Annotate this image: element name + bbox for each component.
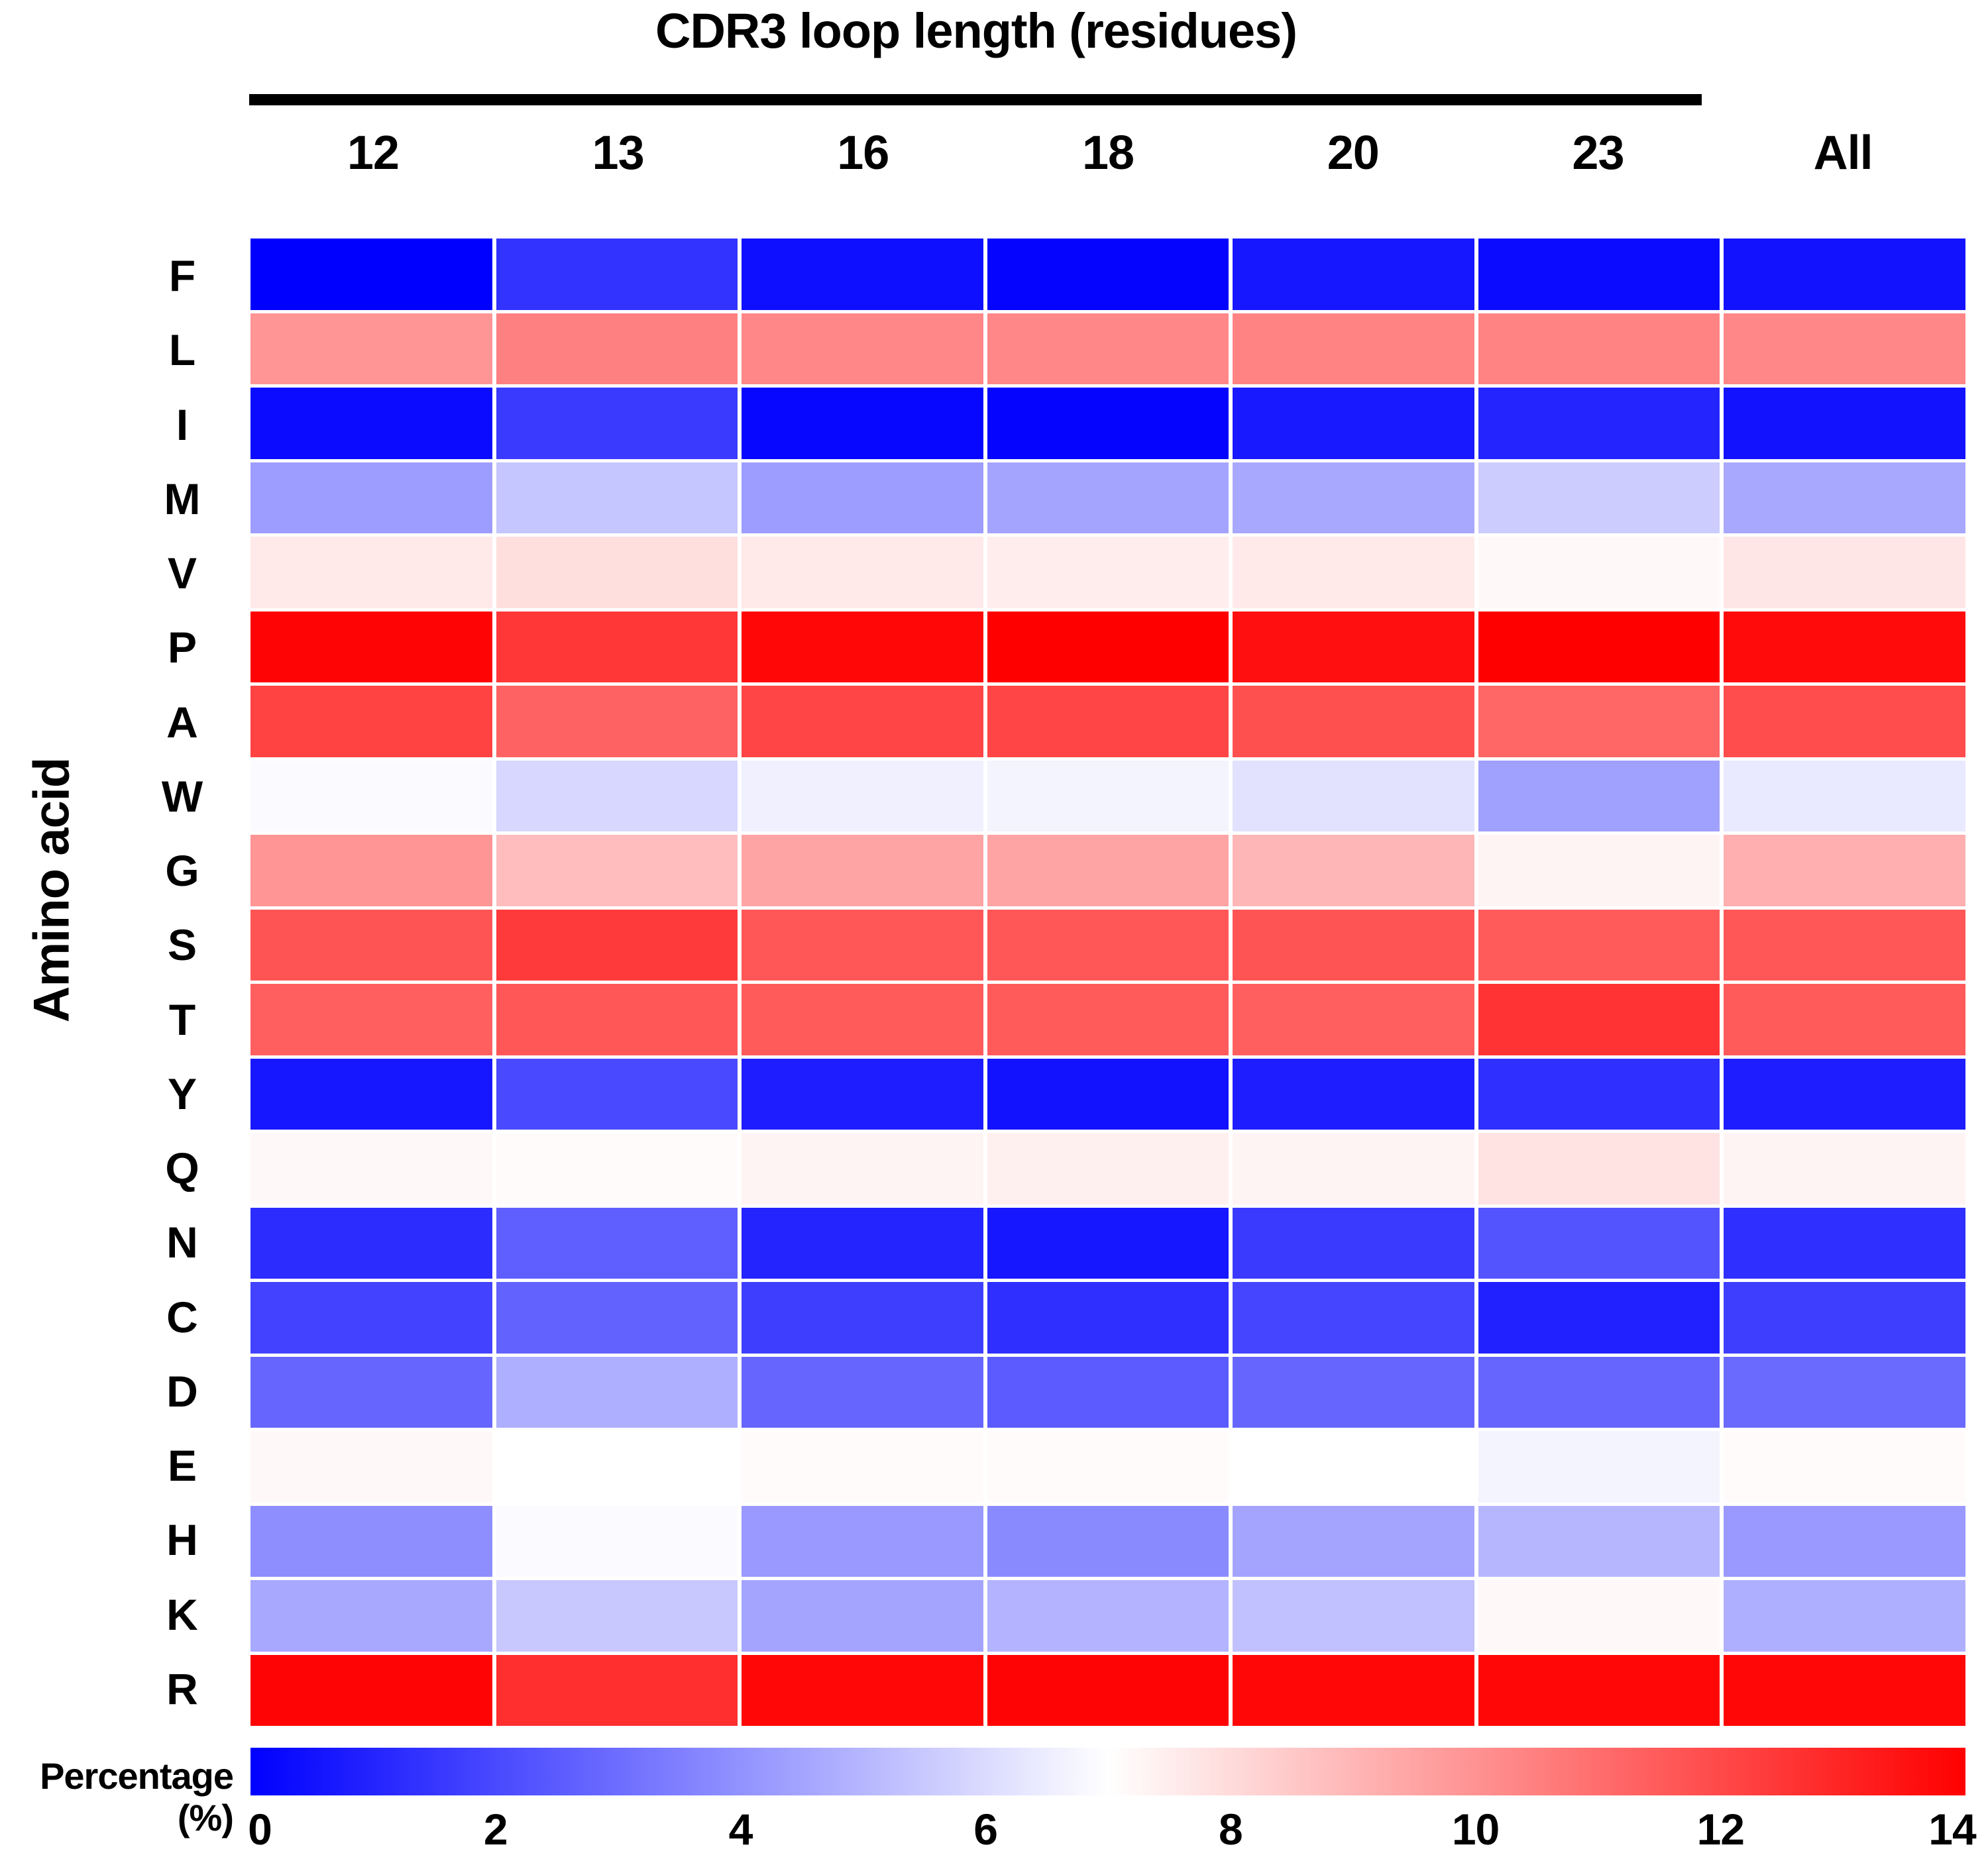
heatmap-cell-V-16 — [742, 537, 983, 608]
colorbar-tick-14: 14 — [1928, 1799, 1975, 1859]
heatmap-cell-Q-All — [1724, 1133, 1965, 1204]
heatmap-cell-I-18 — [987, 388, 1229, 459]
heatmap-cell-K-12 — [250, 1580, 492, 1652]
heatmap-cell-V-18 — [987, 537, 1229, 608]
heatmap-cell-Q-16 — [742, 1133, 983, 1204]
heatmap-cell-P-All — [1724, 612, 1965, 683]
heatmap-cell-Y-12 — [250, 1059, 492, 1130]
heatmap-cell-R-All — [1724, 1655, 1965, 1727]
heatmap-cell-I-13 — [496, 388, 738, 459]
row-label-E: E — [133, 1428, 232, 1503]
heatmap-cell-Q-12 — [250, 1133, 492, 1204]
heatmap-cell-C-12 — [250, 1282, 492, 1354]
heatmap-cell-G-16 — [742, 835, 983, 906]
heatmap-cell-D-12 — [250, 1357, 492, 1428]
heatmap-row-E — [250, 1431, 1965, 1503]
heatmap-cell-V-20 — [1233, 537, 1474, 608]
heatmap-cell-Y-16 — [742, 1059, 983, 1130]
heatmap-cell-E-13 — [496, 1431, 738, 1503]
colorbar-tick-labels: 02468101214 — [250, 1799, 1965, 1859]
colorbar-tick-6: 6 — [973, 1799, 997, 1859]
heatmap-cell-R-18 — [987, 1655, 1229, 1727]
heatmap-cell-L-18 — [987, 313, 1229, 385]
heatmap-cell-P-13 — [496, 612, 738, 683]
heatmap-cell-D-23 — [1478, 1357, 1720, 1428]
heatmap-cell-N-All — [1724, 1208, 1965, 1279]
heatmap-cell-E-20 — [1233, 1431, 1474, 1503]
heatmap-cell-N-13 — [496, 1208, 738, 1279]
heatmap-cell-Q-20 — [1233, 1133, 1474, 1204]
heatmap-cell-S-20 — [1233, 910, 1474, 981]
heatmap-cell-W-18 — [987, 761, 1229, 832]
heatmap-cell-D-13 — [496, 1357, 738, 1428]
heatmap-cell-L-20 — [1233, 313, 1474, 385]
row-label-H: H — [133, 1503, 232, 1577]
heatmap-row-F — [250, 239, 1965, 310]
heatmap-row-W — [250, 761, 1965, 832]
heatmap-cell-S-13 — [496, 910, 738, 981]
heatmap-row-L — [250, 313, 1965, 385]
heatmap-cell-T-All — [1724, 984, 1965, 1055]
heatmap-grid — [250, 239, 1965, 1726]
heatmap-cell-V-12 — [250, 537, 492, 608]
heatmap-row-Y — [250, 1059, 1965, 1130]
heatmap-cell-K-20 — [1233, 1580, 1474, 1652]
heatmap-cell-E-All — [1724, 1431, 1965, 1503]
heatmap-cell-D-16 — [742, 1357, 983, 1428]
row-label-Y: Y — [133, 1057, 232, 1131]
heatmap-cell-C-20 — [1233, 1282, 1474, 1354]
column-header-13: 13 — [496, 117, 741, 189]
heatmap-cell-A-23 — [1478, 686, 1720, 757]
heatmap-cell-E-18 — [987, 1431, 1229, 1503]
colorbar-gradient — [250, 1748, 1965, 1795]
heatmap-cell-P-12 — [250, 612, 492, 683]
heatmap-cell-P-20 — [1233, 612, 1474, 683]
heatmap-row-K — [250, 1580, 1965, 1652]
heatmap-cell-N-12 — [250, 1208, 492, 1279]
heatmap-cell-A-16 — [742, 686, 983, 757]
row-label-column: FLIMVPAWGSTYQNCDEHKR — [133, 239, 232, 1726]
heatmap-cell-S-16 — [742, 910, 983, 981]
heatmap-row-M — [250, 462, 1965, 534]
heatmap-cell-S-12 — [250, 910, 492, 981]
heatmap-cell-V-23 — [1478, 537, 1720, 608]
heatmap-cell-F-All — [1724, 239, 1965, 310]
heatmap-cell-G-18 — [987, 835, 1229, 906]
heatmap-cell-H-13 — [496, 1506, 738, 1577]
heatmap-cell-P-16 — [742, 612, 983, 683]
heatmap-cell-Q-18 — [987, 1133, 1229, 1204]
heatmap-cell-C-16 — [742, 1282, 983, 1354]
row-label-M: M — [133, 462, 232, 536]
row-label-F: F — [133, 239, 232, 313]
heatmap-cell-K-16 — [742, 1580, 983, 1652]
heatmap-cell-Y-18 — [987, 1059, 1229, 1130]
heatmap-cell-F-23 — [1478, 239, 1720, 310]
column-header-all: All — [1720, 117, 1965, 189]
heatmap-cell-M-12 — [250, 462, 492, 534]
heatmap-row-N — [250, 1208, 1965, 1279]
heatmap-cell-V-13 — [496, 537, 738, 608]
heatmap-cell-V-All — [1724, 537, 1965, 608]
row-label-W: W — [133, 759, 232, 833]
heatmap-cell-W-20 — [1233, 761, 1474, 832]
heatmap-cell-M-18 — [987, 462, 1229, 534]
heatmap-cell-E-12 — [250, 1431, 492, 1503]
colorbar-tick-8: 8 — [1219, 1799, 1242, 1859]
heatmap-cell-L-12 — [250, 313, 492, 385]
heatmap-figure: CDR3 loop length (residues) 121316182023… — [0, 0, 1988, 1863]
heatmap-cell-N-20 — [1233, 1208, 1474, 1279]
heatmap-cell-R-23 — [1478, 1655, 1720, 1727]
row-label-L: L — [133, 313, 232, 387]
heatmap-row-Q — [250, 1133, 1965, 1204]
heatmap-cell-N-23 — [1478, 1208, 1720, 1279]
heatmap-cell-A-12 — [250, 686, 492, 757]
row-label-P: P — [133, 610, 232, 684]
heatmap-cell-L-All — [1724, 313, 1965, 385]
heatmap-cell-H-20 — [1233, 1506, 1474, 1577]
heatmap-cell-R-16 — [742, 1655, 983, 1727]
column-axis-rule — [249, 94, 1702, 105]
column-header-16: 16 — [740, 117, 985, 189]
heatmap-cell-T-23 — [1478, 984, 1720, 1055]
heatmap-cell-W-12 — [250, 761, 492, 832]
heatmap-cell-K-All — [1724, 1580, 1965, 1652]
heatmap-cell-K-13 — [496, 1580, 738, 1652]
heatmap-cell-G-13 — [496, 835, 738, 906]
heatmap-row-T — [250, 984, 1965, 1055]
heatmap-cell-C-18 — [987, 1282, 1229, 1354]
row-label-G: G — [133, 833, 232, 908]
heatmap-cell-F-12 — [250, 239, 492, 310]
heatmap-cell-R-20 — [1233, 1655, 1474, 1727]
heatmap-cell-M-All — [1724, 462, 1965, 534]
heatmap-cell-A-All — [1724, 686, 1965, 757]
heatmap-cell-T-13 — [496, 984, 738, 1055]
row-axis-title: Amino acid — [23, 592, 81, 1189]
heatmap-cell-T-12 — [250, 984, 492, 1055]
heatmap-cell-W-16 — [742, 761, 983, 832]
heatmap-cell-F-16 — [742, 239, 983, 310]
heatmap-cell-N-18 — [987, 1208, 1229, 1279]
heatmap-cell-R-13 — [496, 1655, 738, 1727]
heatmap-cell-Q-23 — [1478, 1133, 1720, 1204]
colorbar-tick-4: 4 — [729, 1799, 753, 1859]
row-label-C: C — [133, 1280, 232, 1354]
heatmap-cell-C-23 — [1478, 1282, 1720, 1354]
heatmap-cell-Y-20 — [1233, 1059, 1474, 1130]
heatmap-cell-M-20 — [1233, 462, 1474, 534]
row-label-N: N — [133, 1205, 232, 1279]
colorbar-tick-2: 2 — [484, 1799, 508, 1859]
column-header-20: 20 — [1231, 117, 1476, 189]
heatmap-cell-K-23 — [1478, 1580, 1720, 1652]
row-label-R: R — [133, 1652, 232, 1726]
heatmap-cell-M-23 — [1478, 462, 1720, 534]
heatmap-row-C — [250, 1282, 1965, 1354]
row-label-I: I — [133, 388, 232, 462]
heatmap-cell-W-All — [1724, 761, 1965, 832]
heatmap-cell-P-23 — [1478, 612, 1720, 683]
row-label-D: D — [133, 1354, 232, 1428]
heatmap-cell-R-12 — [250, 1655, 492, 1727]
heatmap-cell-D-All — [1724, 1357, 1965, 1428]
heatmap-cell-F-18 — [987, 239, 1229, 310]
heatmap-cell-I-All — [1724, 388, 1965, 459]
heatmap-cell-H-16 — [742, 1506, 983, 1577]
heatmap-cell-A-13 — [496, 686, 738, 757]
heatmap-cell-H-All — [1724, 1506, 1965, 1577]
heatmap-cell-G-12 — [250, 835, 492, 906]
heatmap-cell-I-23 — [1478, 388, 1720, 459]
heatmap-cell-F-13 — [496, 239, 738, 310]
heatmap-cell-Y-23 — [1478, 1059, 1720, 1130]
heatmap-cell-H-23 — [1478, 1506, 1720, 1577]
colorbar-label-line1: Percentage — [40, 1755, 233, 1797]
heatmap-cell-F-20 — [1233, 239, 1474, 310]
heatmap-cell-H-18 — [987, 1506, 1229, 1577]
colorbar-tick-10: 10 — [1452, 1799, 1499, 1859]
heatmap-cell-E-16 — [742, 1431, 983, 1503]
colorbar-label-line2: (%) — [0, 1797, 233, 1839]
heatmap-row-V — [250, 537, 1965, 608]
heatmap-row-D — [250, 1357, 1965, 1428]
heatmap-cell-L-23 — [1478, 313, 1720, 385]
heatmap-cell-T-18 — [987, 984, 1229, 1055]
column-axis-title: CDR3 loop length (residues) — [250, 5, 1702, 57]
row-label-A: A — [133, 685, 232, 759]
heatmap-row-H — [250, 1506, 1965, 1577]
heatmap-cell-S-All — [1724, 910, 1965, 981]
heatmap-cell-K-18 — [987, 1580, 1229, 1652]
heatmap-cell-A-20 — [1233, 686, 1474, 757]
heatmap-row-P — [250, 612, 1965, 683]
colorbar-axis-label: Percentage (%) — [0, 1756, 233, 1838]
heatmap-cell-W-13 — [496, 761, 738, 832]
heatmap-cell-M-13 — [496, 462, 738, 534]
heatmap-row-R — [250, 1655, 1965, 1727]
colorbar-tick-0: 0 — [248, 1799, 272, 1859]
heatmap-cell-S-23 — [1478, 910, 1720, 981]
heatmap-cell-T-16 — [742, 984, 983, 1055]
heatmap-cell-P-18 — [987, 612, 1229, 683]
heatmap-cell-C-All — [1724, 1282, 1965, 1354]
heatmap-cell-I-16 — [742, 388, 983, 459]
heatmap-cell-W-23 — [1478, 761, 1720, 832]
colorbar-tick-12: 12 — [1697, 1799, 1744, 1859]
heatmap-cell-D-18 — [987, 1357, 1229, 1428]
column-header-18: 18 — [985, 117, 1231, 189]
row-label-T: T — [133, 983, 232, 1057]
heatmap-cell-E-23 — [1478, 1431, 1720, 1503]
column-header-23: 23 — [1476, 117, 1721, 189]
row-label-Q: Q — [133, 1131, 232, 1205]
column-header-12: 12 — [250, 117, 496, 189]
row-label-V: V — [133, 536, 232, 610]
heatmap-cell-I-12 — [250, 388, 492, 459]
heatmap-cell-M-16 — [742, 462, 983, 534]
heatmap-cell-N-16 — [742, 1208, 983, 1279]
heatmap-cell-L-16 — [742, 313, 983, 385]
heatmap-cell-C-13 — [496, 1282, 738, 1354]
row-label-K: K — [133, 1577, 232, 1652]
heatmap-cell-A-18 — [987, 686, 1229, 757]
heatmap-cell-Y-All — [1724, 1059, 1965, 1130]
heatmap-cell-G-20 — [1233, 835, 1474, 906]
row-label-S: S — [133, 908, 232, 982]
heatmap-cell-S-18 — [987, 910, 1229, 981]
heatmap-cell-T-20 — [1233, 984, 1474, 1055]
heatmap-row-A — [250, 686, 1965, 757]
heatmap-cell-G-23 — [1478, 835, 1720, 906]
column-header-row: 121316182023All — [250, 117, 1965, 189]
heatmap-cell-G-All — [1724, 835, 1965, 906]
heatmap-cell-H-12 — [250, 1506, 492, 1577]
heatmap-cell-I-20 — [1233, 388, 1474, 459]
heatmap-cell-Y-13 — [496, 1059, 738, 1130]
heatmap-cell-L-13 — [496, 313, 738, 385]
heatmap-row-I — [250, 388, 1965, 459]
heatmap-row-G — [250, 835, 1965, 906]
heatmap-cell-Q-13 — [496, 1133, 738, 1204]
heatmap-cell-D-20 — [1233, 1357, 1474, 1428]
heatmap-row-S — [250, 910, 1965, 981]
